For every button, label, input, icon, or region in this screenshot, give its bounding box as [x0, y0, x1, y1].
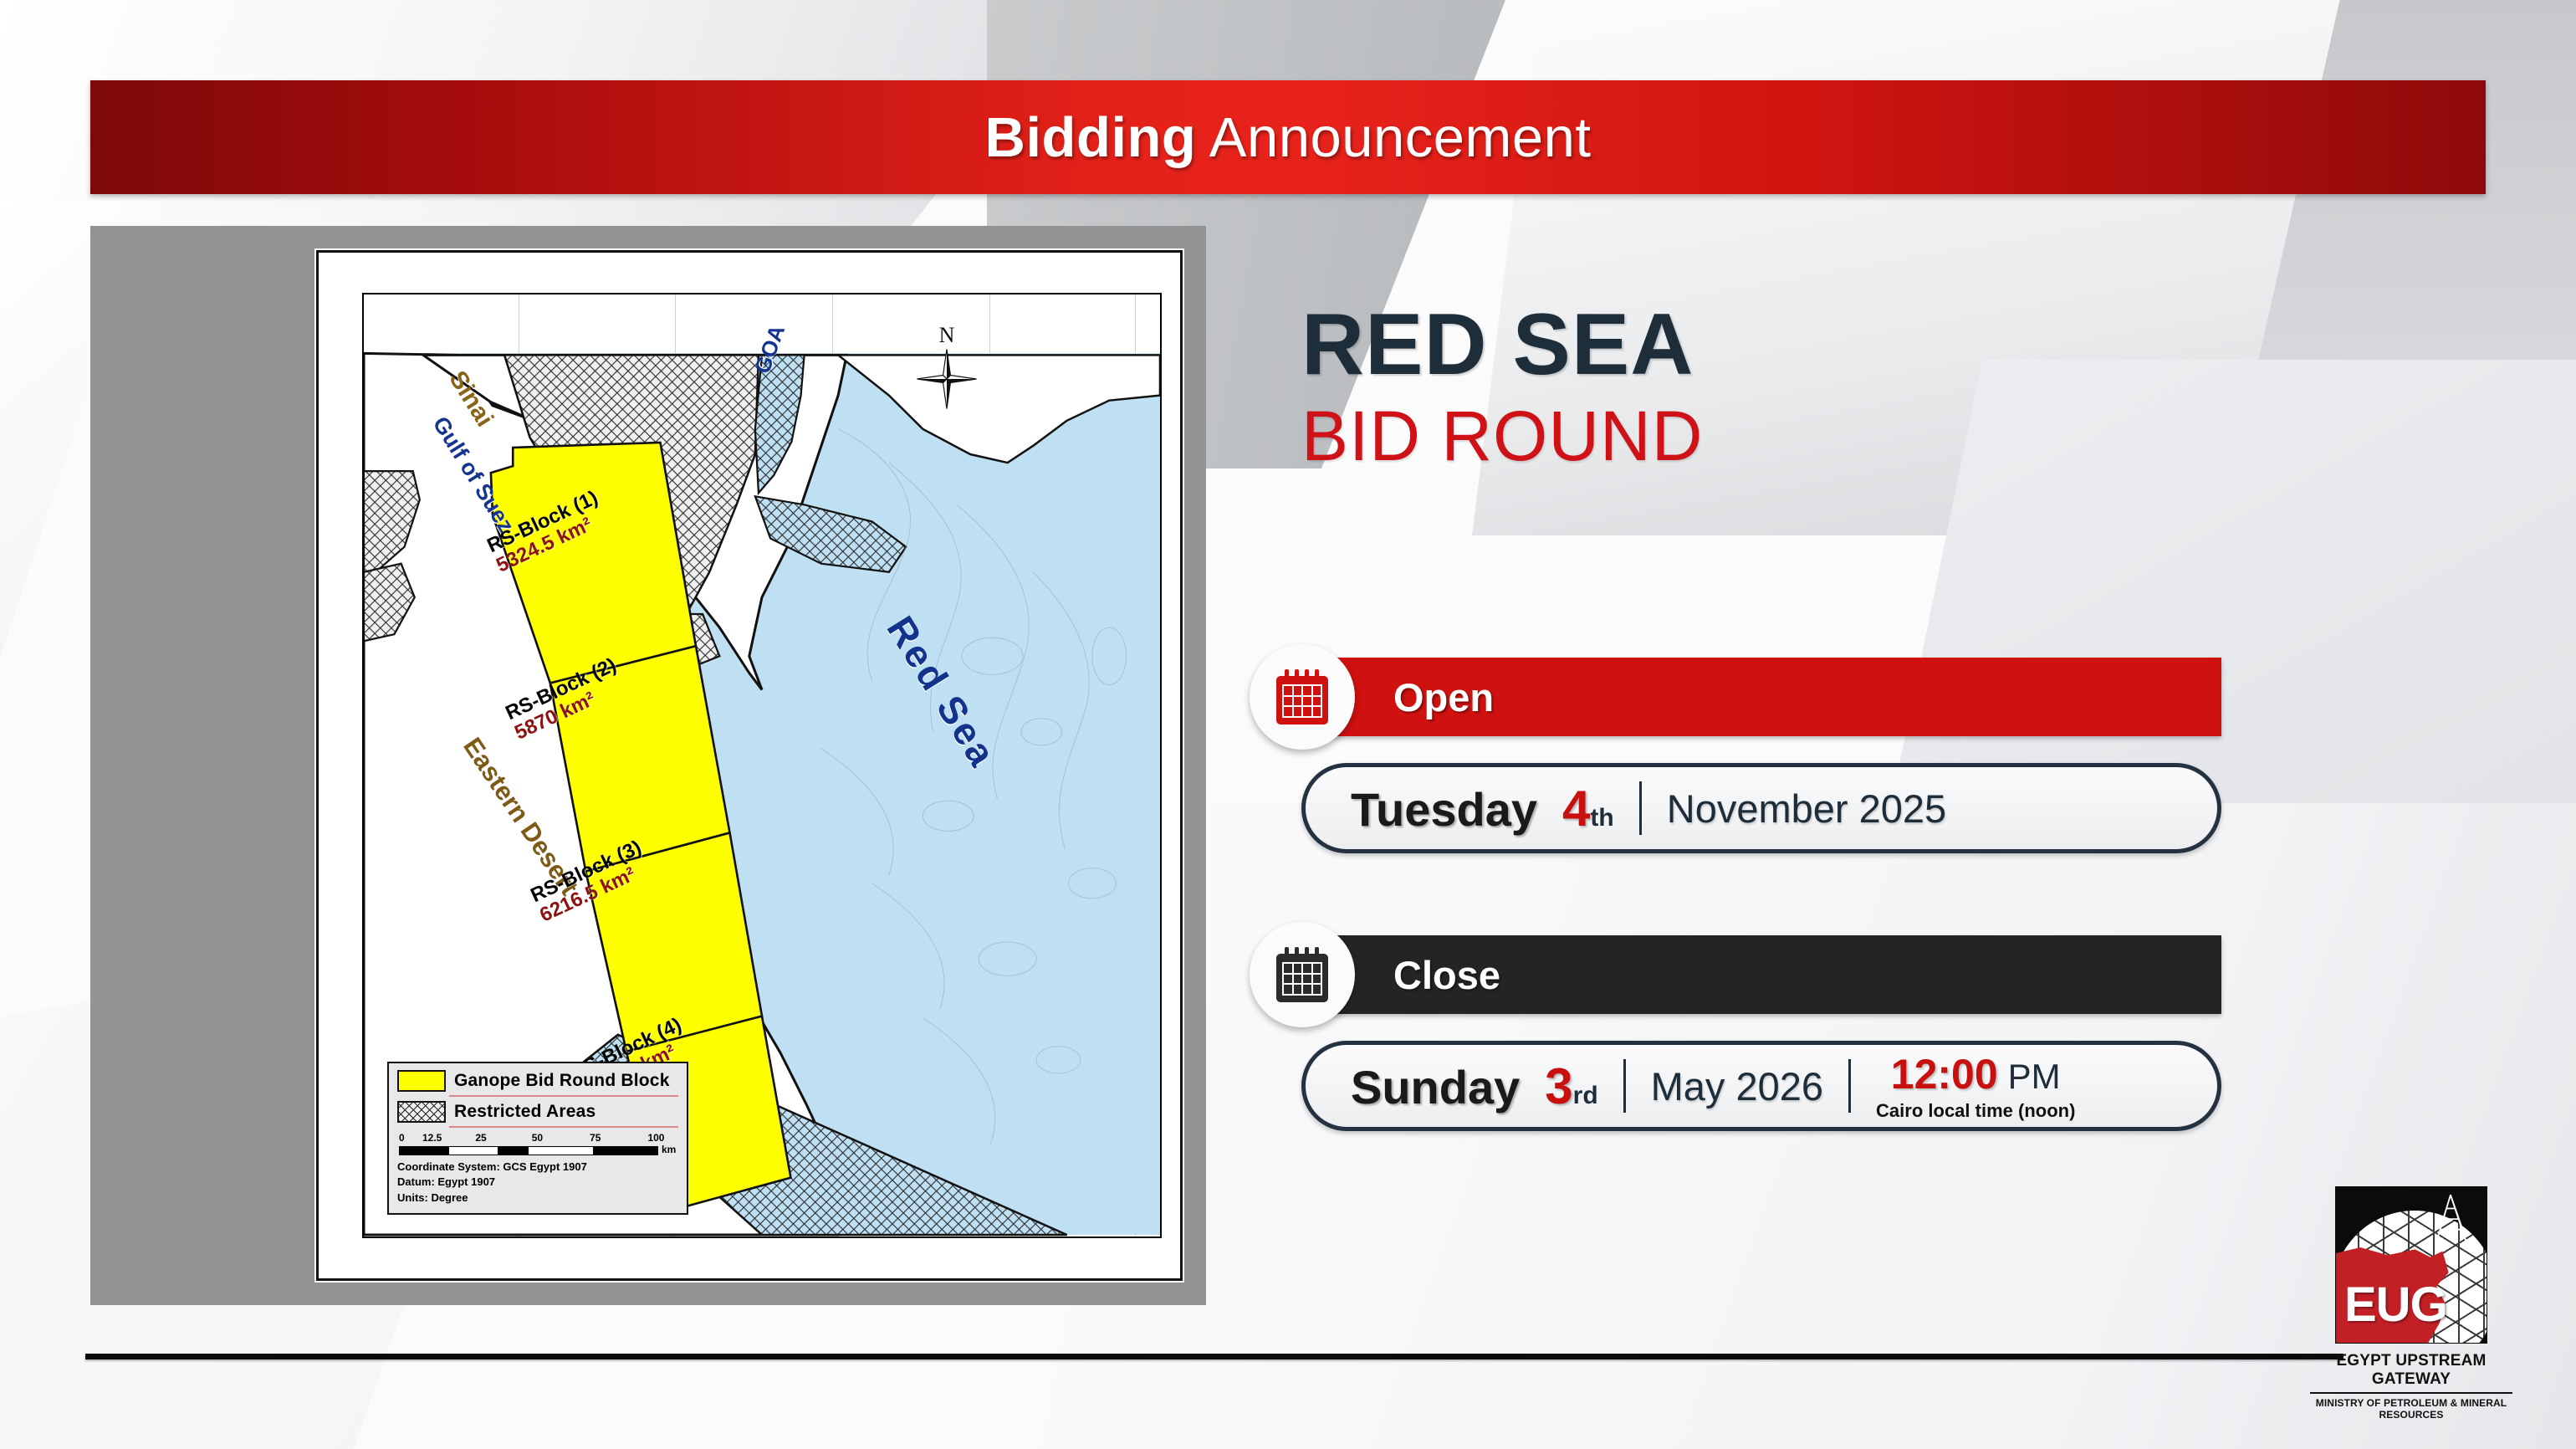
- legend-label-block: Ganope Bid Round Block: [454, 1071, 670, 1091]
- scale-tick-3: 50: [532, 1132, 543, 1144]
- map-frame: Sinai Gulf of Suez GOA Eastern Desert Re…: [316, 250, 1183, 1281]
- page-title-bold: Bidding: [985, 106, 1197, 169]
- open-calendar-badge: [1250, 644, 1355, 750]
- close-day-number: 3: [1545, 1057, 1572, 1115]
- schedule-close-section: Close Sunday 3 rd May 2026 12:00: [1250, 935, 2236, 1019]
- open-date-pill[interactable]: Tuesday 4 th November 2025: [1301, 763, 2221, 853]
- legend-units: Units: Degree: [397, 1190, 678, 1206]
- footer-divider: [85, 1354, 2343, 1359]
- open-month-year: November 2025: [1667, 786, 1946, 832]
- eug-logo-mark: EUG: [2335, 1186, 2487, 1344]
- open-day-suffix: th: [1590, 804, 1613, 832]
- legend-swatch-yellow: [397, 1070, 446, 1092]
- open-divider: [1639, 781, 1642, 835]
- close-time-note: Cairo local time (noon): [1876, 1100, 2075, 1122]
- close-month-year: May 2026: [1651, 1063, 1823, 1109]
- close-date-pill[interactable]: Sunday 3 rd May 2026 12:00 PM Cairo loca…: [1301, 1041, 2221, 1131]
- close-calendar-badge: [1250, 922, 1355, 1027]
- compass-rose: N: [916, 326, 978, 402]
- legend-label-restricted: Restricted Areas: [454, 1102, 595, 1122]
- open-status-label: Open: [1393, 674, 1494, 720]
- eug-logo-ministry: MINISTRY OF PETROLEUM & MINERAL RESOURCE…: [2305, 1397, 2517, 1421]
- close-status-row: Close: [1250, 935, 2236, 1019]
- calendar-icon: [1276, 947, 1328, 1002]
- legend-item-block: Ganope Bid Round Block: [397, 1070, 678, 1092]
- close-day-suffix: rd: [1573, 1082, 1598, 1110]
- scalebar-labels: 0 12.5 25 50 75 100: [399, 1132, 678, 1144]
- eug-logo-name: EGYPT UPSTREAM GATEWAY: [2305, 1352, 2517, 1389]
- scalebar-unit: km: [662, 1144, 676, 1155]
- headline-primary: RED SEA: [1301, 301, 1703, 388]
- close-status-bar: Close: [1301, 935, 2221, 1014]
- close-time-suffix: PM: [2008, 1057, 2061, 1097]
- open-status-bar: Open: [1301, 658, 2221, 736]
- open-status-row: Open: [1250, 658, 2236, 741]
- close-status-label: Close: [1393, 952, 1500, 998]
- scale-tick-5: 100: [647, 1132, 664, 1144]
- page-title: Bidding Announcement: [985, 105, 1592, 170]
- schedule-open-section: Open Tuesday 4 th November 2025: [1250, 658, 2236, 741]
- open-weekday-group: Tuesday 4 th: [1306, 780, 1614, 837]
- close-divider-1: [1623, 1059, 1626, 1113]
- close-weekday-group: Sunday 3 rd: [1306, 1057, 1598, 1115]
- headline-secondary: BID ROUND: [1301, 397, 1703, 475]
- close-divider-2: [1848, 1059, 1851, 1113]
- close-time-line: 12:00 PM: [1891, 1050, 2061, 1098]
- map-legend: Ganope Bid Round Block Restricted Areas …: [387, 1062, 688, 1215]
- map-canvas[interactable]: Sinai Gulf of Suez GOA Eastern Desert Re…: [362, 293, 1162, 1238]
- close-weekday: Sunday: [1351, 1060, 1520, 1114]
- legend-swatch-hatch: [397, 1101, 446, 1123]
- scale-tick-1: 12.5: [422, 1132, 442, 1144]
- close-time: 12:00: [1891, 1050, 1998, 1098]
- close-time-group: 12:00 PM Cairo local time (noon): [1876, 1050, 2075, 1122]
- compass-star-icon: [916, 348, 978, 410]
- calendar-icon: [1276, 669, 1328, 724]
- legend-coordinate-system: Coordinate System: GCS Egypt 1907: [397, 1160, 678, 1175]
- headline: RED SEA BID ROUND: [1301, 301, 1703, 475]
- eug-logo-separator: [2310, 1392, 2512, 1394]
- legend-item-restricted: Restricted Areas: [397, 1101, 678, 1123]
- header-banner: Bidding Announcement: [90, 80, 2486, 194]
- map-scalebar: [399, 1146, 658, 1155]
- open-day-number: 4: [1562, 780, 1590, 837]
- legend-meta: Coordinate System: GCS Egypt 1907 Datum:…: [397, 1160, 678, 1206]
- scale-tick-2: 25: [475, 1132, 486, 1144]
- legend-divider-1: [449, 1095, 678, 1097]
- eug-logo: EUG EGYPT UPSTREAM GATEWAY MINISTRY OF P…: [2305, 1186, 2517, 1421]
- compass-north-label: N: [939, 323, 955, 348]
- legend-divider-2: [449, 1126, 678, 1128]
- eug-logo-text: EUG: [2344, 1281, 2447, 1329]
- map-panel: Sinai Gulf of Suez GOA Eastern Desert Re…: [90, 226, 1206, 1305]
- oil-rig-icon: [2428, 1192, 2473, 1247]
- open-weekday: Tuesday: [1351, 782, 1537, 837]
- page-title-light: Announcement: [1196, 106, 1591, 169]
- scale-tick-4: 75: [590, 1132, 601, 1144]
- legend-datum: Datum: Egypt 1907: [397, 1175, 678, 1190]
